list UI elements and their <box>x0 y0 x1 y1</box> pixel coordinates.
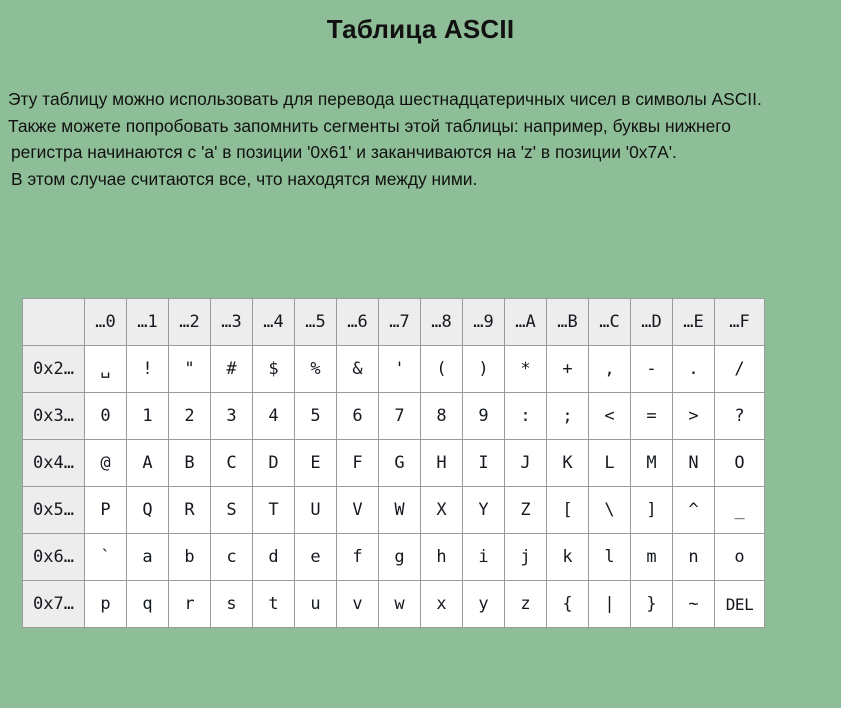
cell-0x24: $ <box>253 346 295 393</box>
table-row: 0x2… ␣ ! " # $ % & ' ( ) * + , - . / <box>23 346 765 393</box>
table-row: 0x4… @ A B C D E F G H I J K L M N O <box>23 440 765 487</box>
cell-0x5e: ^ <box>673 487 715 534</box>
cell-0x3e: > <box>673 393 715 440</box>
row-header-0x7: 0x7… <box>23 581 85 628</box>
cell-0x2a: * <box>505 346 547 393</box>
cell-0x72: r <box>169 581 211 628</box>
cell-0x38: 8 <box>421 393 463 440</box>
cell-0x39: 9 <box>463 393 505 440</box>
cell-0x69: i <box>463 534 505 581</box>
column-header-e: …E <box>673 299 715 346</box>
column-header-5: …5 <box>295 299 337 346</box>
cell-0x53: S <box>211 487 253 534</box>
column-header-1: …1 <box>127 299 169 346</box>
cell-0x49: I <box>463 440 505 487</box>
cell-0x6b: k <box>547 534 589 581</box>
cell-0x44: D <box>253 440 295 487</box>
description-line-3: регистра начинаются с 'a' в позиции '0x6… <box>8 139 838 166</box>
cell-0x6f: o <box>715 534 765 581</box>
row-header-0x4: 0x4… <box>23 440 85 487</box>
slide-canvas: Таблица ASCII Эту таблицу можно использо… <box>0 0 841 708</box>
cell-0x36: 6 <box>337 393 379 440</box>
column-header-3: …3 <box>211 299 253 346</box>
ascii-table-container: …0 …1 …2 …3 …4 …5 …6 …7 …8 …9 …A …B …C …… <box>22 298 765 628</box>
cell-0x26: & <box>337 346 379 393</box>
cell-0x23: # <box>211 346 253 393</box>
cell-0x64: d <box>253 534 295 581</box>
cell-0x4e: N <box>673 440 715 487</box>
cell-0x6e: n <box>673 534 715 581</box>
cell-0x4f: O <box>715 440 765 487</box>
cell-0x79: y <box>463 581 505 628</box>
description-paragraph: Эту таблицу можно использовать для перев… <box>8 86 838 192</box>
row-header-0x5: 0x5… <box>23 487 85 534</box>
column-header-0: …0 <box>85 299 127 346</box>
cell-0x6a: j <box>505 534 547 581</box>
column-header-f: …F <box>715 299 765 346</box>
cell-0x5b: [ <box>547 487 589 534</box>
table-row: 0x5… P Q R S T U V W X Y Z [ \ ] ^ _ <box>23 487 765 534</box>
cell-0x60: ` <box>85 534 127 581</box>
cell-0x47: G <box>379 440 421 487</box>
cell-0x30: 0 <box>85 393 127 440</box>
cell-0x35: 5 <box>295 393 337 440</box>
table-row: 0x6… ` a b c d e f g h i j k l m n o <box>23 534 765 581</box>
cell-0x57: W <box>379 487 421 534</box>
column-header-2: …2 <box>169 299 211 346</box>
cell-0x7c: | <box>589 581 631 628</box>
cell-0x21: ! <box>127 346 169 393</box>
cell-0x4c: L <box>589 440 631 487</box>
cell-0x71: q <box>127 581 169 628</box>
cell-0x7f: DEL <box>715 581 765 628</box>
cell-0x77: w <box>379 581 421 628</box>
cell-0x63: c <box>211 534 253 581</box>
cell-0x52: R <box>169 487 211 534</box>
row-header-0x2: 0x2… <box>23 346 85 393</box>
cell-0x27: ' <box>379 346 421 393</box>
cell-0x32: 2 <box>169 393 211 440</box>
cell-0x4d: M <box>631 440 673 487</box>
row-header-0x6: 0x6… <box>23 534 85 581</box>
table-row: 0x7… p q r s t u v w x y z { | } ~ DEL <box>23 581 765 628</box>
cell-0x40: @ <box>85 440 127 487</box>
cell-0x68: h <box>421 534 463 581</box>
cell-0x55: U <box>295 487 337 534</box>
cell-0x59: Y <box>463 487 505 534</box>
cell-0x2d: - <box>631 346 673 393</box>
cell-0x75: u <box>295 581 337 628</box>
cell-0x6d: m <box>631 534 673 581</box>
cell-0x7b: { <box>547 581 589 628</box>
cell-0x50: P <box>85 487 127 534</box>
table-row: 0x3… 0 1 2 3 4 5 6 7 8 9 : ; < = > ? <box>23 393 765 440</box>
cell-0x5f: _ <box>715 487 765 534</box>
cell-0x70: p <box>85 581 127 628</box>
cell-0x31: 1 <box>127 393 169 440</box>
cell-0x29: ) <box>463 346 505 393</box>
cell-0x4b: K <box>547 440 589 487</box>
cell-0x5a: Z <box>505 487 547 534</box>
column-header-6: …6 <box>337 299 379 346</box>
cell-0x33: 3 <box>211 393 253 440</box>
cell-0x51: Q <box>127 487 169 534</box>
table-corner-cell <box>23 299 85 346</box>
cell-0x61: a <box>127 534 169 581</box>
cell-0x56: V <box>337 487 379 534</box>
cell-0x4a: J <box>505 440 547 487</box>
ascii-table-body: 0x2… ␣ ! " # $ % & ' ( ) * + , - . / <box>23 346 765 628</box>
column-header-8: …8 <box>421 299 463 346</box>
cell-0x25: % <box>295 346 337 393</box>
description-line-1: Эту таблицу можно использовать для перев… <box>8 86 838 113</box>
ascii-table-head: …0 …1 …2 …3 …4 …5 …6 …7 …8 …9 …A …B …C …… <box>23 299 765 346</box>
cell-0x22: " <box>169 346 211 393</box>
cell-0x66: f <box>337 534 379 581</box>
cell-0x76: v <box>337 581 379 628</box>
cell-0x54: T <box>253 487 295 534</box>
cell-0x28: ( <box>421 346 463 393</box>
cell-0x46: F <box>337 440 379 487</box>
cell-0x5c: \ <box>589 487 631 534</box>
cell-0x48: H <box>421 440 463 487</box>
page-title: Таблица ASCII <box>0 12 841 46</box>
cell-0x2e: . <box>673 346 715 393</box>
column-header-c: …C <box>589 299 631 346</box>
cell-0x62: b <box>169 534 211 581</box>
cell-0x78: x <box>421 581 463 628</box>
column-header-7: …7 <box>379 299 421 346</box>
cell-0x7e: ~ <box>673 581 715 628</box>
cell-0x41: A <box>127 440 169 487</box>
cell-0x74: t <box>253 581 295 628</box>
cell-0x73: s <box>211 581 253 628</box>
cell-0x58: X <box>421 487 463 534</box>
cell-0x34: 4 <box>253 393 295 440</box>
ascii-table: …0 …1 …2 …3 …4 …5 …6 …7 …8 …9 …A …B …C …… <box>22 298 765 628</box>
description-line-2: Также можете попробовать запомнить сегме… <box>8 113 838 140</box>
cell-0x42: B <box>169 440 211 487</box>
column-header-4: …4 <box>253 299 295 346</box>
cell-0x2c: , <box>589 346 631 393</box>
column-header-9: …9 <box>463 299 505 346</box>
cell-0x2f: / <box>715 346 765 393</box>
description-line-4: В этом случае считаются все, что находят… <box>8 166 838 193</box>
cell-0x43: C <box>211 440 253 487</box>
row-header-0x3: 0x3… <box>23 393 85 440</box>
cell-0x2b: + <box>547 346 589 393</box>
cell-0x3d: = <box>631 393 673 440</box>
cell-0x3c: < <box>589 393 631 440</box>
cell-0x3f: ? <box>715 393 765 440</box>
cell-0x67: g <box>379 534 421 581</box>
ascii-table-header-row: …0 …1 …2 …3 …4 …5 …6 …7 …8 …9 …A …B …C …… <box>23 299 765 346</box>
cell-0x7a: z <box>505 581 547 628</box>
cell-0x45: E <box>295 440 337 487</box>
cell-0x20: ␣ <box>85 346 127 393</box>
cell-0x5d: ] <box>631 487 673 534</box>
cell-0x7d: } <box>631 581 673 628</box>
cell-0x3a: : <box>505 393 547 440</box>
column-header-b: …B <box>547 299 589 346</box>
cell-0x65: e <box>295 534 337 581</box>
cell-0x37: 7 <box>379 393 421 440</box>
column-header-d: …D <box>631 299 673 346</box>
column-header-a: …A <box>505 299 547 346</box>
cell-0x6c: l <box>589 534 631 581</box>
cell-0x3b: ; <box>547 393 589 440</box>
